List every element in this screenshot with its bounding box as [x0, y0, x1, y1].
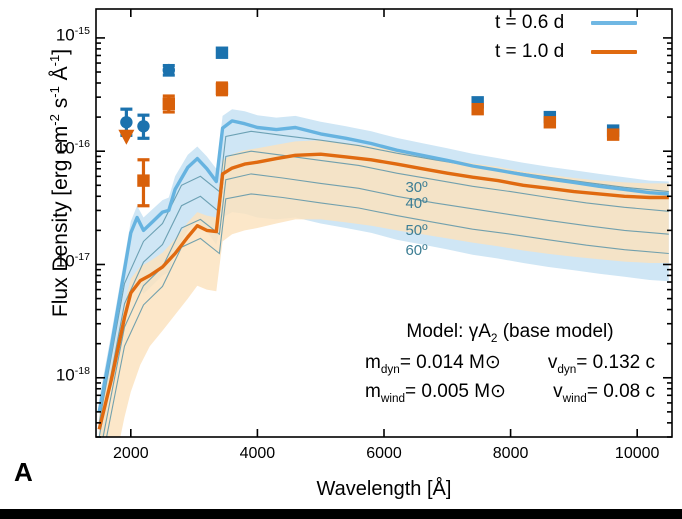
- legend: t = 0.6 d t = 1.0 d: [495, 8, 637, 66]
- angle-label-60: 60º: [405, 242, 427, 259]
- x-tick-6000: 6000: [344, 445, 424, 463]
- legend-label-t06: t = 0.6 d: [495, 12, 587, 34]
- data-point: [137, 160, 149, 206]
- legend-label-t10: t = 1.0 d: [495, 41, 587, 63]
- spectrum-plot: [0, 0, 682, 519]
- figure-panel-a: Flux Density [erg cm-2 s-1 Å-1] Waveleng…: [0, 0, 682, 519]
- x-tick-4000: 4000: [217, 445, 297, 463]
- legend-swatch-t10: [591, 50, 637, 54]
- data-point: [163, 96, 175, 112]
- panel-letter: A: [14, 457, 33, 488]
- y-tick-1e-16: 10-16: [18, 138, 90, 159]
- angle-label-30: 30º: [405, 179, 427, 196]
- data-point: [471, 103, 483, 115]
- data-point: [163, 64, 175, 76]
- legend-entry-t06: t = 0.6 d: [495, 8, 637, 37]
- model-title: Model: γA2 (base model): [365, 318, 655, 347]
- legend-entry-t10: t = 1.0 d: [495, 37, 637, 66]
- bottom-border: [0, 509, 682, 519]
- model-row-wind: mwind= 0.005 M⊙ vwind= 0.08 c: [365, 378, 655, 407]
- x-tick-8000: 8000: [471, 445, 551, 463]
- data-point: [216, 83, 228, 95]
- angle-label-40: 40º: [405, 195, 427, 212]
- legend-swatch-t06: [591, 21, 637, 25]
- data-point: [216, 47, 228, 59]
- data-point: [137, 115, 149, 138]
- m-wind: mwind= 0.005 M⊙: [365, 378, 506, 407]
- v-wind: vwind= 0.08 c: [553, 378, 655, 407]
- model-annotation: Model: γA2 (base model) mdyn= 0.014 M⊙ v…: [365, 318, 655, 407]
- x-tick-2000: 2000: [91, 445, 171, 463]
- data-point: [118, 130, 134, 145]
- v-dyn: vdyn= 0.132 c: [548, 349, 655, 378]
- model-row-dyn: mdyn= 0.014 M⊙ vdyn= 0.132 c: [365, 349, 655, 378]
- x-axis-label: Wavelength [Å]: [96, 478, 672, 501]
- y-tick-1e-17: 10-17: [18, 251, 90, 272]
- data-point: [607, 128, 619, 140]
- y-tick-1e-18: 10-18: [18, 365, 90, 386]
- y-tick-1e-15: 10-15: [18, 25, 90, 46]
- angle-label-50: 50º: [405, 222, 427, 239]
- m-dyn: mdyn= 0.014 M⊙: [365, 349, 501, 378]
- data-point: [544, 116, 556, 128]
- x-tick-10000: 10000: [597, 445, 677, 463]
- y-axis-label: Flux Density [erg cm-2 s-1 Å-1]: [47, 0, 73, 393]
